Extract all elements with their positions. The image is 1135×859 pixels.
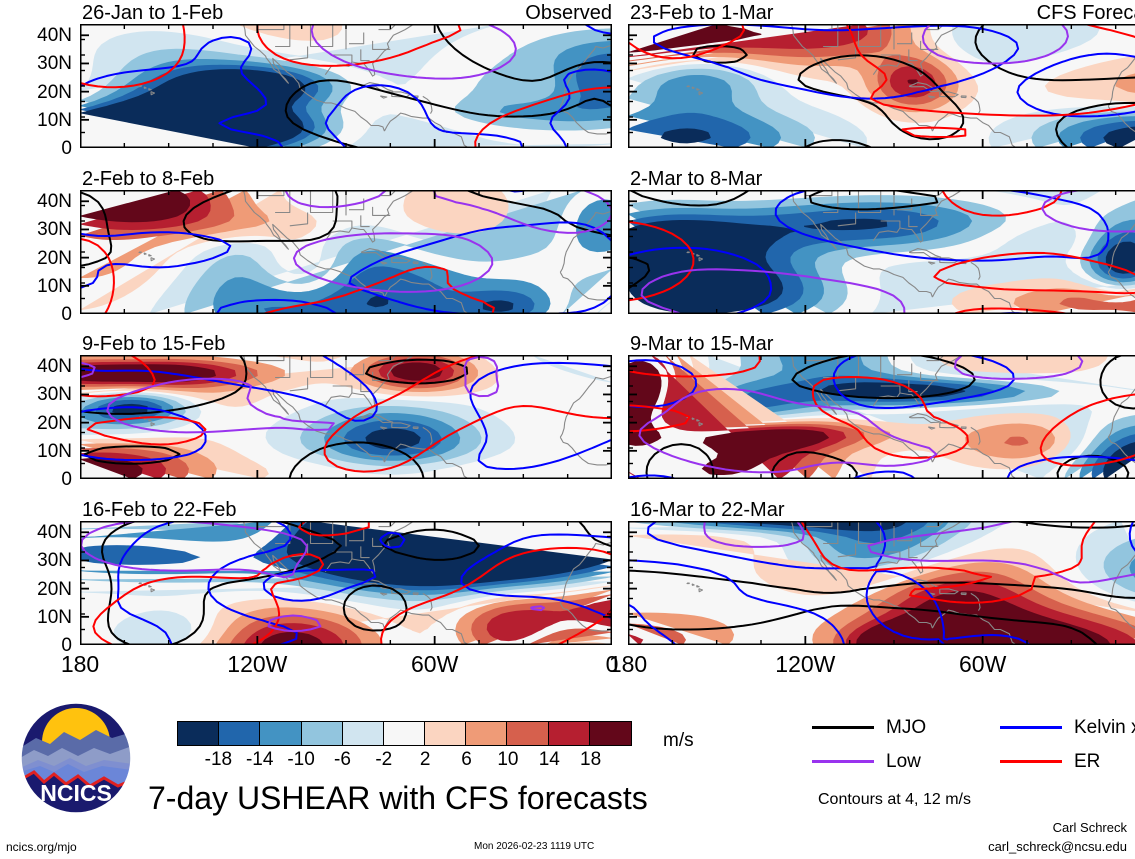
legend-swatch-low — [812, 760, 874, 763]
y-axis-label: 10N — [0, 442, 72, 461]
colorbar-swatch — [343, 722, 384, 745]
colorbar-swatch — [384, 722, 425, 745]
panel-title-fcst-2: 2-Mar to 8-Mar — [630, 169, 762, 189]
x-axis-label: 60W — [933, 653, 1033, 676]
y-axis-label: 20N — [0, 83, 72, 102]
colorbar — [177, 721, 632, 746]
x-axis-label: 120W — [755, 653, 855, 676]
y-axis-label: 0 — [0, 305, 72, 324]
y-axis-label: 20N — [0, 580, 72, 599]
timestamp: Mon 2026-02-23 1119 UTC — [474, 842, 594, 852]
y-axis-label: 40N — [0, 192, 72, 211]
map-panel-fcst-2 — [628, 190, 1135, 314]
y-axis-label: 30N — [0, 220, 72, 239]
y-axis-label: 0 — [0, 139, 72, 158]
y-axis-label: 20N — [0, 249, 72, 268]
legend-swatch-kelvin-x2 — [1000, 726, 1062, 729]
y-axis-label: 30N — [0, 54, 72, 73]
main-title: 7-day USHEAR with CFS forecasts — [148, 782, 648, 814]
colorbar-swatch — [219, 722, 260, 745]
map-panel-obs-4 — [80, 521, 612, 645]
map-panel-fcst-4 — [628, 521, 1135, 645]
contour-note: Contours at 4, 12 m/s — [818, 792, 971, 808]
legend-label-er: ER — [1074, 752, 1100, 771]
colorbar-swatch — [302, 722, 343, 745]
colorbar-tick-label: 18 — [566, 750, 616, 769]
colorbar-swatch — [425, 722, 466, 745]
y-axis-label: 40N — [0, 523, 72, 542]
panel-title-fcst-4: 16-Mar to 22-Mar — [630, 500, 785, 520]
map-panel-fcst-1 — [628, 24, 1135, 148]
y-axis-label: 10N — [0, 608, 72, 627]
x-axis-label: 180 — [30, 653, 130, 676]
panel-title-fcst-3: 9-Mar to 15-Mar — [630, 334, 773, 354]
author-name: Carl Schreck — [1053, 821, 1127, 834]
y-axis-label: 30N — [0, 551, 72, 570]
y-axis-label: 40N — [0, 26, 72, 45]
y-axis-label: 10N — [0, 277, 72, 296]
colorbar-swatch — [260, 722, 301, 745]
colorbar-swatch — [507, 722, 548, 745]
colorbar-units: m/s — [663, 730, 694, 752]
y-axis-label: 10N — [0, 111, 72, 130]
map-panel-obs-2 — [80, 190, 612, 314]
y-axis-label: 30N — [0, 385, 72, 404]
x-axis-label: 0 — [1110, 653, 1135, 676]
x-axis-label: 120W — [207, 653, 307, 676]
site-url[interactable]: ncics.org/mjo — [6, 841, 77, 853]
colorbar-swatch — [590, 722, 631, 745]
panel-title-obs-2: 2-Feb to 8-Feb — [82, 169, 214, 189]
x-axis-label: 180 — [578, 653, 678, 676]
legend-label-low: Low — [886, 752, 921, 771]
colorbar-swatch — [466, 722, 507, 745]
map-panel-fcst-3 — [628, 355, 1135, 479]
y-axis-label: 20N — [0, 414, 72, 433]
map-panel-obs-3 — [80, 355, 612, 479]
legend-swatch-mjo — [812, 726, 874, 729]
column-header-observed: Observed — [80, 3, 612, 23]
panel-title-obs-3: 9-Feb to 15-Feb — [82, 334, 225, 354]
ncics-logo: NCICS — [20, 702, 132, 814]
colorbar-swatch — [549, 722, 590, 745]
y-axis-label: 0 — [0, 470, 72, 489]
column-header-forecast: CFS Forecast — [628, 3, 1135, 23]
panel-title-obs-4: 16-Feb to 22-Feb — [82, 500, 237, 520]
legend-label-mjo: MJO — [886, 718, 926, 737]
logo-label: NCICS — [40, 780, 112, 806]
map-panel-obs-1 — [80, 24, 612, 148]
legend-swatch-er — [1000, 760, 1062, 763]
x-axis-label: 60W — [385, 653, 485, 676]
legend-label-kelvin-x2: Kelvin x2 — [1074, 718, 1135, 737]
y-axis-label: 40N — [0, 357, 72, 376]
author-email: carl_schreck@ncsu.edu — [988, 840, 1127, 853]
colorbar-swatch — [178, 722, 219, 745]
